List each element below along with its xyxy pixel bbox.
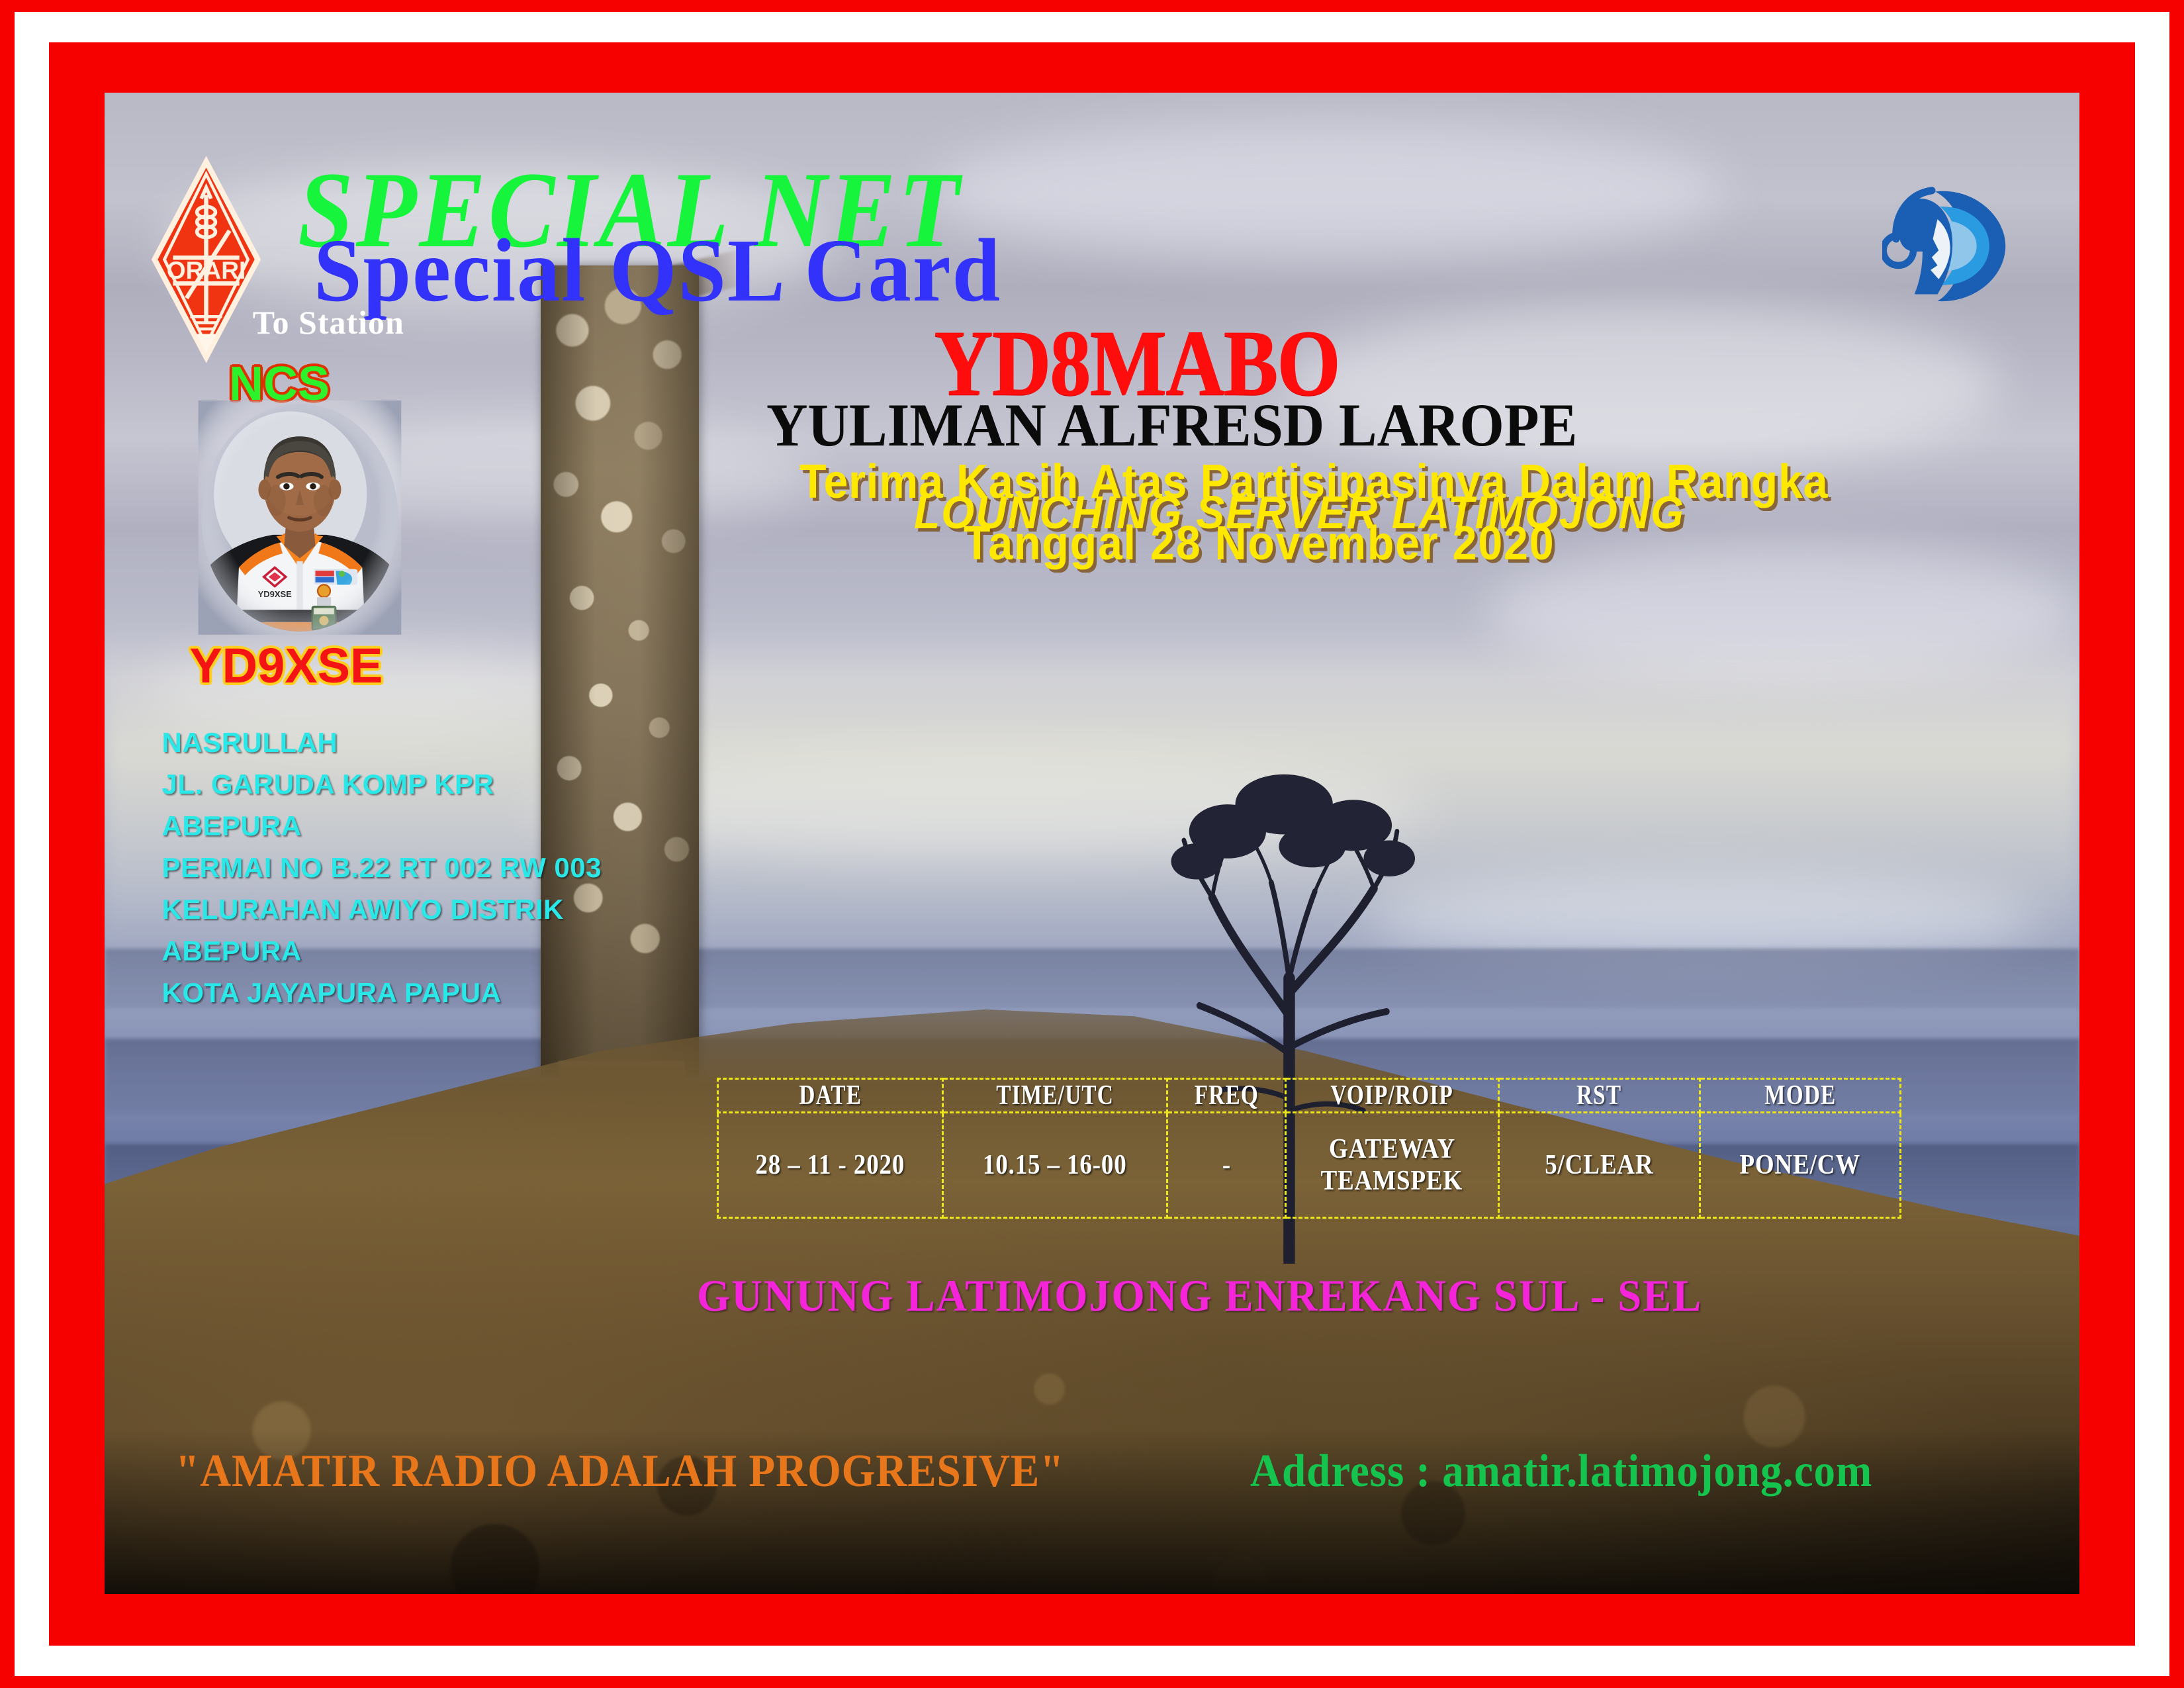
ncs-callsign: YD9XSE — [189, 637, 383, 694]
cell-freq: - — [1167, 1112, 1286, 1217]
card-border-white: ORARI — [15, 12, 2169, 1676]
column-header-rst: RST — [1508, 1078, 1689, 1112]
column-header-mode: MODE — [1709, 1078, 1891, 1112]
address-line: NASRULLAH — [162, 722, 715, 763]
ncs-operator-photo: YD9XSE — [169, 400, 430, 635]
card-photo-canvas: ORARI — [105, 93, 2079, 1594]
operator-name: YULIMAN ALFRESD LAROPE — [766, 390, 1577, 460]
location-line: GUNUNG LATIMOJONG ENREKANG SUL - SEL — [697, 1270, 1702, 1322]
to-station-label: To Station — [253, 303, 404, 342]
footer-motto: "AMATIR RADIO ADALAH PROGRESIVE" — [175, 1445, 1064, 1498]
column-header-freq: FREQ — [1173, 1078, 1280, 1112]
cell-date: 28 – 11 - 2020 — [718, 1112, 943, 1217]
cell-time: 10.15 – 16-00 — [942, 1112, 1167, 1217]
ncs-address-block: NASRULLAH JL. GARUDA KOMP KPR ABEPURA PE… — [162, 722, 715, 1013]
column-header-date: DATE — [729, 1078, 932, 1112]
cell-mode: PONE/CW — [1700, 1112, 1901, 1217]
card-border-red-inner: ORARI — [49, 42, 2135, 1646]
column-header-time: TIME/UTC — [954, 1078, 1156, 1112]
thanks-line-3: Tanggal 28 November 2020 — [964, 516, 1555, 571]
address-line: ABEPURA — [162, 930, 715, 972]
address-line: KELURAHAN AWIYO DISTRIK — [162, 888, 715, 930]
table-header-row: DATE TIME/UTC FREQ VOIP/ROIP RST — [718, 1078, 1901, 1112]
page-subtitle: Special QSL Card — [314, 219, 1001, 322]
footer-web-address: Address : amatir.latimojong.com — [1250, 1445, 1872, 1498]
table-row: 28 – 11 - 2020 10.15 – 16-00 - GATEWAY T… — [718, 1112, 1901, 1217]
address-line: ABEPURA — [162, 805, 715, 847]
column-header-voip: VOIP/ROIP — [1297, 1078, 1488, 1112]
orari-logo-text: ORARI — [167, 256, 246, 284]
address-line: KOTA JAYAPURA PAPUA — [162, 972, 715, 1013]
cell-voip: GATEWAY TEAMSPEK — [1285, 1112, 1498, 1217]
cell-rst: 5/CLEAR — [1498, 1112, 1700, 1217]
address-line: JL. GARUDA KOMP KPR — [162, 763, 715, 805]
qsl-card: ORARI — [0, 0, 2184, 1688]
address-line: PERMAI NO B.22 RT 002 RW 003 — [162, 847, 715, 888]
headphone-face-roip-logo — [1882, 128, 2021, 363]
qso-log-table: DATE TIME/UTC FREQ VOIP/ROIP RST — [717, 1078, 1901, 1219]
